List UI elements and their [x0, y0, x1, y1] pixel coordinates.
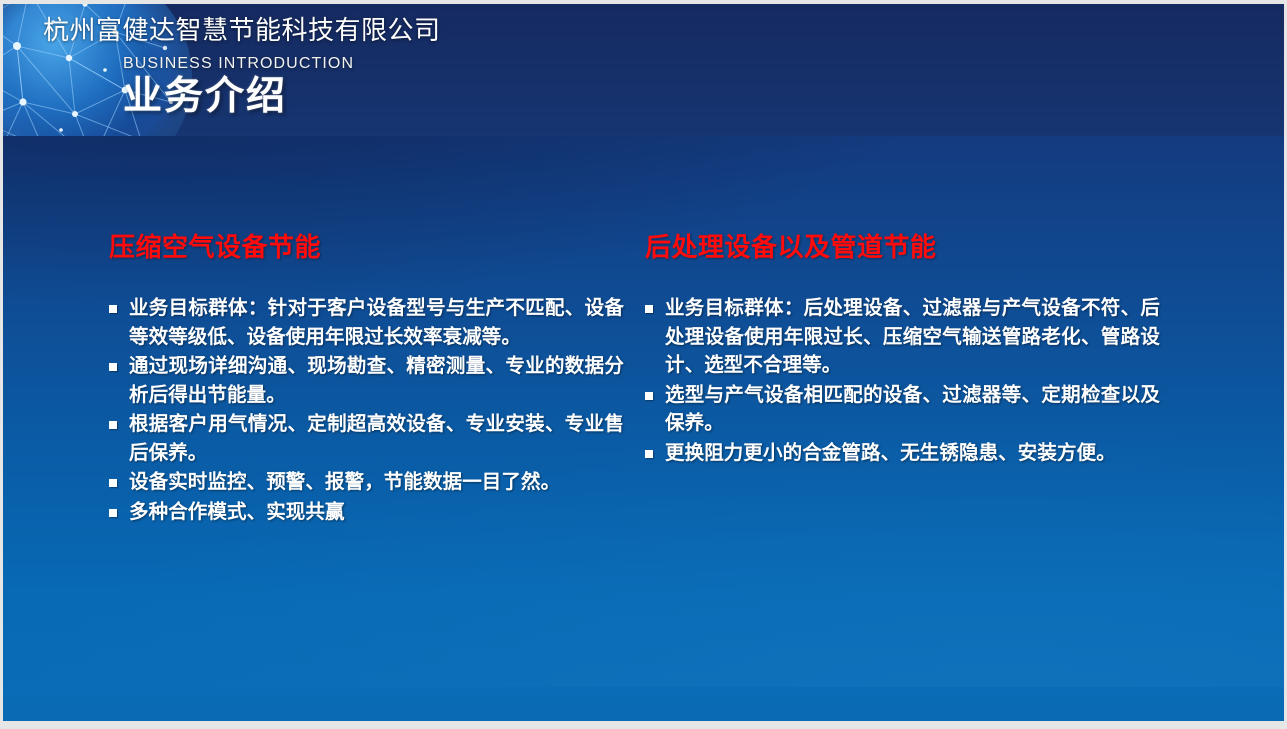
list-item: 业务目标群体：针对于客户设备型号与生产不匹配、设备等效等级低、设备使用年限过长效…	[109, 294, 624, 351]
list-item: 通过现场详细沟通、现场勘查、精密测量、专业的数据分析后得出节能量。	[109, 352, 624, 409]
list-item: 业务目标群体：后处理设备、过滤器与产气设备不符、后处理设备使用年限过长、压缩空气…	[645, 294, 1160, 380]
presentation-slide: 杭州富健达智慧节能科技有限公司 BUSINESS INTRODUCTION 业务…	[0, 0, 1287, 729]
column-compressed-air: 压缩空气设备节能 业务目标群体：针对于客户设备型号与生产不匹配、设备等效等级低、…	[109, 232, 624, 527]
list-item: 设备实时监控、预警、报警，节能数据一目了然。	[109, 468, 624, 497]
list-item: 选型与产气设备相匹配的设备、过滤器等、定期检查以及保养。	[645, 381, 1160, 438]
list-item: 更换阻力更小的合金管路、无生锈隐患、安装方便。	[645, 439, 1160, 468]
list-item: 多种合作模式、实现共赢	[109, 498, 624, 527]
slide-bottom-bar	[3, 687, 1284, 721]
section-eyebrow: BUSINESS INTRODUCTION	[123, 54, 354, 74]
bullet-list: 业务目标群体：针对于客户设备型号与生产不匹配、设备等效等级低、设备使用年限过长效…	[109, 294, 624, 526]
column-heading: 压缩空气设备节能	[109, 232, 624, 262]
header-band: 杭州富健达智慧节能科技有限公司 BUSINESS INTRODUCTION 业务…	[3, 4, 1284, 136]
column-heading: 后处理设备以及管道节能	[645, 232, 1160, 262]
page-title: 业务介绍	[123, 74, 287, 120]
list-item: 根据客户用气情况、定制超高效设备、专业安装、专业售后保养。	[109, 410, 624, 467]
bullet-list: 业务目标群体：后处理设备、过滤器与产气设备不符、后处理设备使用年限过长、压缩空气…	[645, 294, 1160, 467]
company-name: 杭州富健达智慧节能科技有限公司	[43, 15, 441, 45]
column-post-treatment: 后处理设备以及管道节能 业务目标群体：后处理设备、过滤器与产气设备不符、后处理设…	[645, 232, 1160, 468]
